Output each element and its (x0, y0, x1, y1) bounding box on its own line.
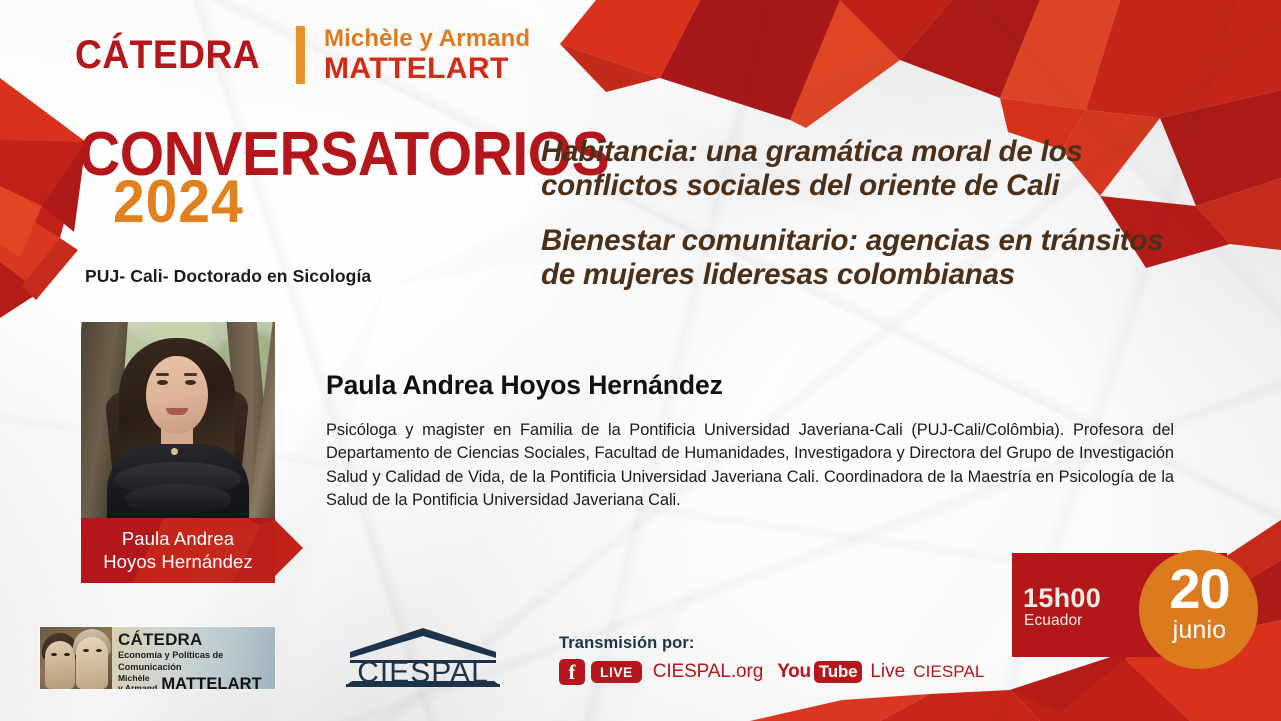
ciespal-base-rule-2 (348, 681, 498, 684)
shard-topright-6 (900, 0, 1040, 98)
ciespal-logo: CIESPAL (344, 626, 502, 688)
shard-topright-3 (790, 0, 952, 120)
page-year: 2024 (113, 172, 244, 232)
shard-left-6 (0, 186, 42, 258)
event-month: junio (1152, 618, 1247, 643)
shard-topright-11 (1196, 178, 1281, 250)
brand-mattelart-block: Michèle y Armand MATTELART (324, 27, 530, 84)
broadcast-title: Transmisión por: (559, 634, 984, 653)
shard-topright-5 (560, 44, 660, 92)
broadcast-block: Transmisión por: f LIVE CIESPAL.org You … (559, 634, 984, 685)
shard-topright-8 (1086, 0, 1281, 118)
shard-bottomright-5 (750, 694, 930, 721)
ciespal-roof-icon (350, 628, 496, 658)
badge-subtitle: Economía y Políticas de Comunicación (118, 650, 271, 673)
youtube-icon-you[interactable]: You (777, 661, 811, 683)
youtube-channel-label[interactable]: CIESPAL (913, 662, 984, 682)
speaker-photo (81, 322, 275, 518)
event-timezone: Ecuador (1024, 612, 1082, 630)
shard-topright-4 (790, 0, 900, 128)
broadcast-channels: f LIVE CIESPAL.org You Tube Live CIESPAL (559, 659, 984, 685)
shard-bottomright-3 (1010, 654, 1190, 721)
live-badge: LIVE (591, 661, 642, 683)
catedra-mattelart-badge: CÁTEDRA Economía y Políticas de Comunica… (40, 627, 275, 689)
shard-bottomright-4 (880, 690, 1040, 721)
shard-left-4 (0, 200, 60, 292)
badge-catedra-label: CÁTEDRA (118, 631, 271, 648)
youtube-live-label: Live (870, 661, 905, 683)
shard-topright-7 (1000, 0, 1120, 110)
brand-header: CÁTEDRA Michèle y Armand MATTELART (75, 26, 530, 84)
talk-title-1: Habitancia: una gramática moral de los c… (541, 135, 1191, 202)
shard-left-1 (0, 78, 86, 206)
badge-michele-lines: Michèle y Armand (118, 674, 161, 689)
shard-topright-2 (660, 0, 840, 120)
caption-triangle-accent (275, 520, 303, 576)
brand-mattelart-word: MATTELART (324, 54, 530, 84)
talk-titles: Habitancia: una gramática moral de los c… (541, 135, 1191, 292)
brand-michele-y-armand: Michèle y Armand (324, 27, 530, 51)
badge-portrait-photo (40, 627, 112, 689)
ciespal-base-rule-1 (346, 684, 500, 687)
brand-catedra-word: CÁTEDRA (75, 33, 260, 78)
caption-line-2: Hoyos Hernández (103, 551, 253, 574)
speaker-photo-caption: Paula Andrea Hoyos Hernández (81, 518, 275, 583)
vertical-divider (296, 26, 305, 84)
facebook-page-label[interactable]: CIESPAL.org (653, 661, 764, 683)
shard-left-7 (22, 238, 78, 300)
poster-canvas: CÁTEDRA Michèle y Armand MATTELART CONVE… (0, 0, 1281, 721)
talk-title-2: Bienestar comunitario: agencias en tráns… (541, 224, 1191, 291)
shard-topright-1 (560, 0, 700, 78)
event-time: 15h00 (1023, 583, 1101, 614)
speaker-portrait-illustration (81, 322, 275, 518)
facebook-icon[interactable]: f (559, 659, 585, 685)
shard-left-5 (0, 262, 40, 318)
youtube-icon-tube[interactable]: Tube (814, 661, 863, 683)
event-day: 20 (1152, 561, 1247, 617)
speaker-bio: Psicóloga y magister en Familia de la Po… (326, 419, 1174, 512)
badge-michele-line-2: y Armand (118, 684, 157, 690)
page-subline: PUJ- Cali- Doctorado en Sicología (85, 266, 371, 287)
speaker-name: Paula Andrea Hoyos Hernández (326, 370, 723, 401)
caption-line-1: Paula Andrea (122, 528, 234, 551)
shard-left-2 (0, 140, 86, 238)
badge-mattelart-label: MATTELART (161, 676, 262, 689)
